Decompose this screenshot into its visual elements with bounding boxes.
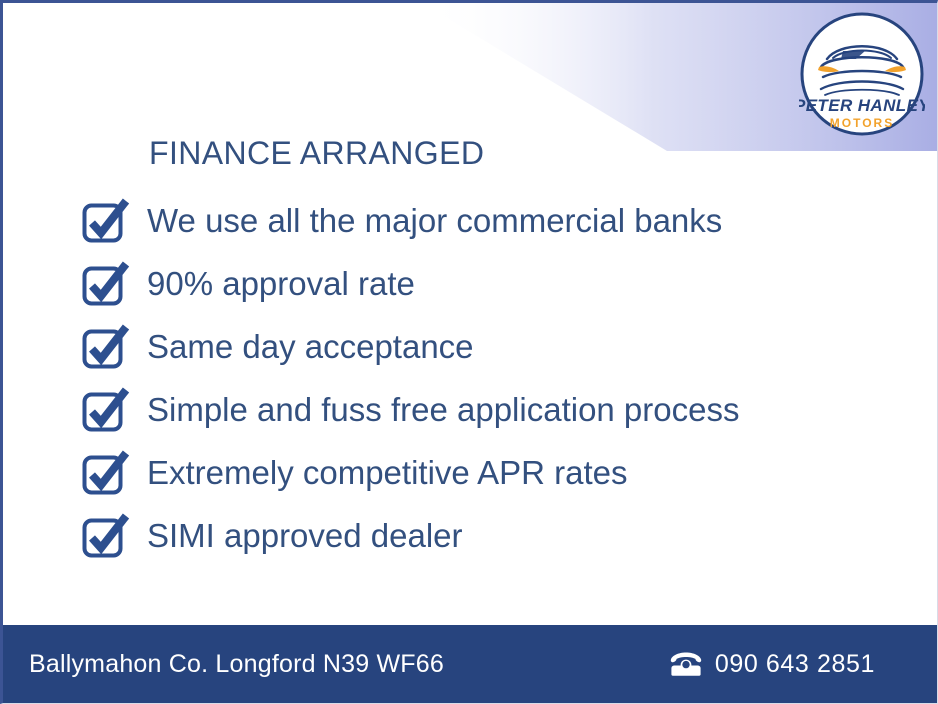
list-item: SIMI approved dealer: [81, 504, 881, 567]
footer-phone-number: 090 643 2851: [715, 650, 875, 679]
footer-phone-group[interactable]: 090 643 2851: [669, 650, 915, 679]
list-item-label: Simple and fuss free application process: [147, 393, 740, 426]
logo-svg: PETER HANLEY MOTORS: [799, 11, 925, 137]
footer-bar: Ballymahon Co. Longford N39 WF66 090 643…: [3, 625, 937, 703]
list-item: Same day acceptance: [81, 315, 881, 378]
list-item-label: Extremely competitive APR rates: [147, 456, 628, 489]
footer-address: Ballymahon Co. Longford N39 WF66: [29, 650, 444, 679]
checkbox-checked-icon: [81, 198, 133, 244]
list-item: Extremely competitive APR rates: [81, 441, 881, 504]
telephone-icon: [669, 651, 703, 677]
logo-sub-text: MOTORS: [830, 116, 894, 130]
benefit-list: We use all the major commercial banks 90…: [81, 189, 881, 567]
list-item-label: SIMI approved dealer: [147, 519, 463, 552]
list-item: We use all the major commercial banks: [81, 189, 881, 252]
list-item-label: We use all the major commercial banks: [147, 204, 722, 237]
checkbox-checked-icon: [81, 513, 133, 559]
list-item: 90% approval rate: [81, 252, 881, 315]
finance-advert-card: PETER HANLEY MOTORS FINANCE ARRANGED We …: [0, 0, 938, 704]
logo-brand-text: PETER HANLEY: [799, 96, 925, 115]
list-item-label: Same day acceptance: [147, 330, 474, 363]
list-item-label: 90% approval rate: [147, 267, 415, 300]
checkbox-checked-icon: [81, 450, 133, 496]
checkbox-checked-icon: [81, 324, 133, 370]
checkbox-checked-icon: [81, 387, 133, 433]
page-title: FINANCE ARRANGED: [149, 135, 484, 172]
peter-hanley-motors-logo: PETER HANLEY MOTORS: [799, 11, 925, 137]
checkbox-checked-icon: [81, 261, 133, 307]
list-item: Simple and fuss free application process: [81, 378, 881, 441]
